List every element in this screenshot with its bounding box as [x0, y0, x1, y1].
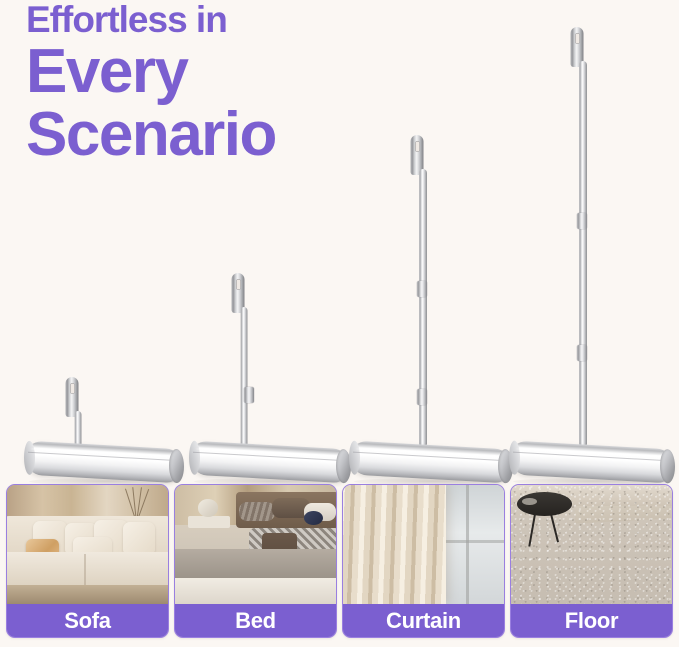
bed-photo [175, 485, 336, 604]
roller-endcap-left [189, 440, 200, 475]
headline-line-2: Every [26, 42, 276, 102]
scenario-panel-sofa[interactable]: Sofa [6, 484, 169, 638]
roller-endcap-right [169, 449, 184, 484]
scenario-panel-curtain[interactable]: Curtain [342, 484, 505, 638]
lint-roller-long [345, 135, 517, 487]
roller-head [190, 441, 350, 484]
roller-pole [75, 411, 82, 445]
decor-plate-icon [522, 498, 536, 505]
telescoping-joint [577, 213, 587, 229]
panel-label-curtain: Curtain [343, 604, 504, 637]
lint-roller-medium [186, 269, 354, 487]
roller-head [350, 440, 512, 483]
scenario-panel-row: Sofa Bed Curtain [0, 484, 679, 647]
panel-label-sofa: Sofa [7, 604, 168, 637]
scenario-panel-bed[interactable]: Bed [174, 484, 337, 638]
roller-head [25, 441, 183, 484]
roller-endcap-left [24, 441, 35, 476]
roller-endcap-right [660, 449, 675, 484]
sofa-photo [7, 485, 168, 604]
headline-line-1: Effortless in [26, 2, 276, 38]
hang-hole-icon [236, 279, 241, 290]
scenario-panel-floor[interactable]: Floor [510, 484, 673, 638]
telescoping-joint-lower [577, 345, 587, 361]
telescoping-joint [417, 281, 427, 297]
roller-pole [241, 307, 248, 445]
curtain-photo [343, 485, 504, 604]
lint-roller-short [22, 367, 186, 487]
hang-hole-icon [415, 141, 420, 152]
roller-endcap-left [349, 440, 360, 475]
hang-hole-icon [575, 33, 580, 44]
panel-label-bed: Bed [175, 604, 336, 637]
panel-label-floor: Floor [511, 604, 672, 637]
telescoping-joint [244, 387, 254, 403]
roller-pole [579, 61, 587, 445]
lint-roller-extra-long [505, 27, 679, 487]
floor-photo [511, 485, 672, 604]
hang-hole-icon [70, 383, 75, 394]
page-headline: Effortless in Every Scenario [26, 2, 276, 165]
telescoping-joint-lower [417, 389, 427, 405]
roller-head [510, 440, 674, 483]
roller-endcap-left [509, 440, 520, 475]
headline-line-3: Scenario [26, 105, 276, 165]
